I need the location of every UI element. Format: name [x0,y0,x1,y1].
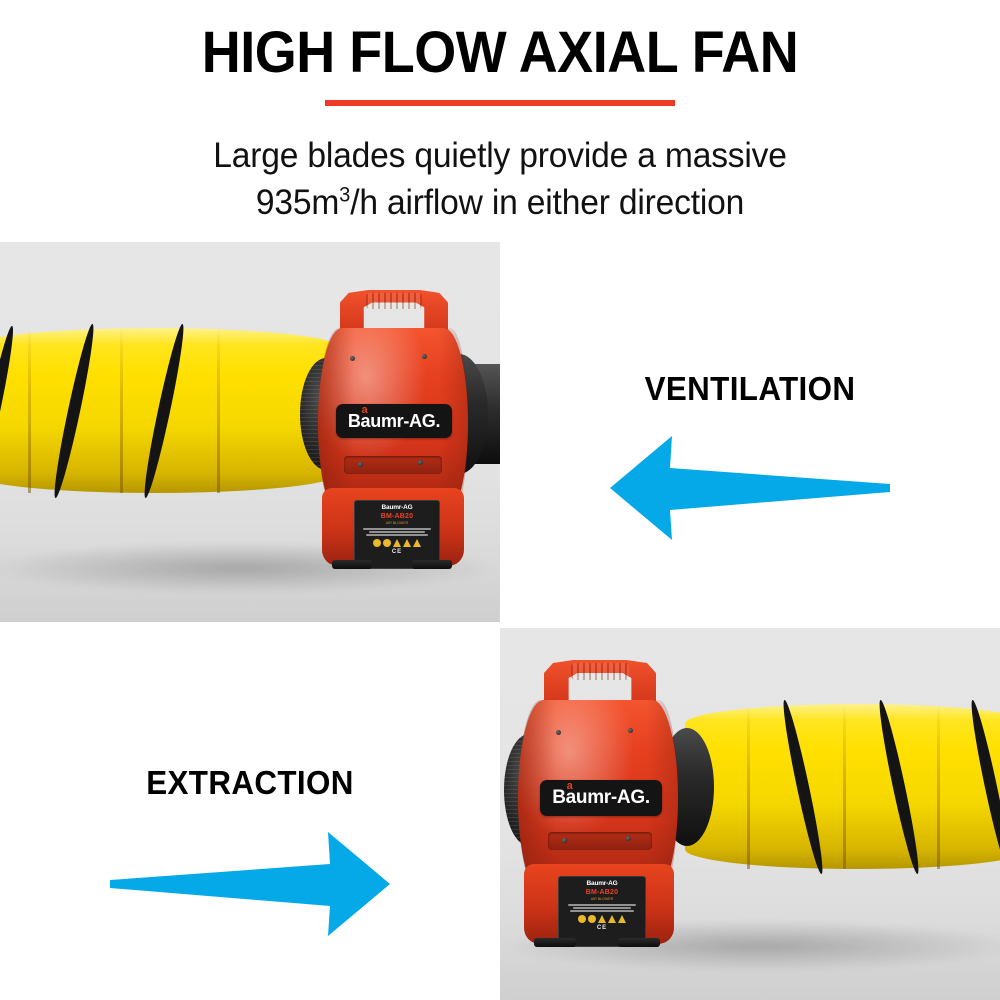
brand-letter-a: aa [566,787,576,808]
handle-grip-ridges [571,663,629,680]
header-block: HIGH FLOW AXIAL FAN Large blades quietly… [0,0,1000,240]
brand-letter-b: B [348,411,361,431]
arrow-left-icon [610,432,890,542]
rubber-foot-pad [534,938,576,947]
housing-screw [556,730,561,735]
brand-umlaut-mark: a [567,780,573,792]
fan-duct-scene-ventilation: Baaumr-AG. Baumr-AG BM-AB20 AIR BLOWER [0,242,500,622]
arrow-right-icon [110,828,390,938]
housing-screw [628,728,633,733]
page-title: HIGH FLOW AXIAL FAN [35,22,965,84]
subtitle-line-2: 935m3/h airflow in either direction [20,179,980,226]
ventilation-label: VENTILATION [513,370,988,408]
extraction-callout-panel: EXTRACTION [0,628,500,1000]
fan-housing: Baaumr-AG. Baumr-AG BM-AB20 AIR BLOWER [318,328,468,518]
duct-seam [937,704,940,869]
housing-screw [422,354,427,359]
warning-icon-round [578,915,586,923]
spec-model: BM-AB20 [562,888,642,897]
extraction-arrow-wrap [0,828,500,943]
spec-model: BM-AB20 [358,512,436,521]
spec-sticker: Baumr-AG BM-AB20 AIR BLOWER [354,500,440,569]
rubber-foot-pad [412,560,452,569]
brand-badge: Baaumr-AG. [336,404,452,438]
flexible-duct [685,704,1000,869]
airflow-value: 935m [256,183,339,222]
vent-screw [562,838,567,843]
cubic-superscript: 3 [339,183,350,206]
duct-seam [217,328,220,493]
brand-registered-dot: . [645,787,650,808]
flexible-duct [0,328,340,493]
spec-brand: Baumr-AG [562,880,642,888]
warning-icon-triangle [413,539,421,547]
fan-housing: Baaumr-AG. Baumr-AG BM-AB20 AIR BLOWER [518,700,678,896]
title-underline-rule [325,100,675,106]
spec-warning-icons [358,539,436,547]
warning-icon-triangle [618,915,626,923]
warning-icon-round [588,915,596,923]
spec-text-lines [562,904,642,912]
vent-screw [626,836,631,841]
brand-badge: Baaumr-AG. [540,780,662,816]
warning-icon-round [383,539,391,547]
brand-umlaut-mark: a [362,404,368,416]
spec-text-lines [358,528,436,536]
warning-icon-triangle [598,915,606,923]
ventilation-callout-panel: VENTILATION [500,242,1000,622]
housing-screw [350,356,355,361]
brand-rest: umr-AG [370,411,435,431]
ventilation-photo-panel: Baaumr-AG. Baumr-AG BM-AB20 AIR BLOWER [0,242,500,622]
brand-badge-text: Baaumr-AG. [552,787,650,809]
ce-mark: CE [562,925,642,931]
brand-letter-a: aa [361,411,371,431]
duct-seam [843,704,846,869]
brand-letter-b: B [552,787,565,808]
ce-mark: CE [358,549,436,555]
warning-icon-triangle [393,539,401,547]
spec-brand: Baumr-AG [358,504,436,512]
brand-registered-dot: . [435,411,440,431]
spec-warning-icons [562,915,642,923]
spec-subtitle: AIR BLOWER [358,521,436,526]
vent-screw [418,460,423,465]
rubber-foot-pad [618,938,660,947]
warning-icon-triangle [403,539,411,547]
spec-sticker: Baumr-AG BM-AB20 AIR BLOWER [558,876,646,947]
duct-seam [28,328,31,493]
warning-icon-round [373,539,381,547]
extraction-label: EXTRACTION [13,764,488,802]
spec-subtitle: AIR BLOWER [562,897,642,902]
brand-badge-text: Baaumr-AG. [348,411,440,432]
vent-screw [358,462,363,467]
brand-rest: umr-AG [576,787,645,808]
page-subtitle: Large blades quietly provide a massive 9… [20,132,980,226]
subtitle-line-1: Large blades quietly provide a massive [20,132,980,179]
warning-icon-triangle [608,915,616,923]
ventilation-arrow-wrap [500,432,1000,547]
fan-duct-scene-extraction: Baaumr-AG. Baumr-AG BM-AB20 AIR BLOWER [500,628,1000,1000]
duct-seam [120,328,123,493]
rubber-foot-pad [332,560,372,569]
product-feature-image: HIGH FLOW AXIAL FAN Large blades quietly… [0,0,1000,1000]
airflow-rest: /h airflow in either direction [350,183,744,222]
handle-grip-ridges [366,293,422,309]
extraction-photo-panel: Baaumr-AG. Baumr-AG BM-AB20 AIR BLOWER [500,628,1000,1000]
duct-seam [747,704,750,869]
